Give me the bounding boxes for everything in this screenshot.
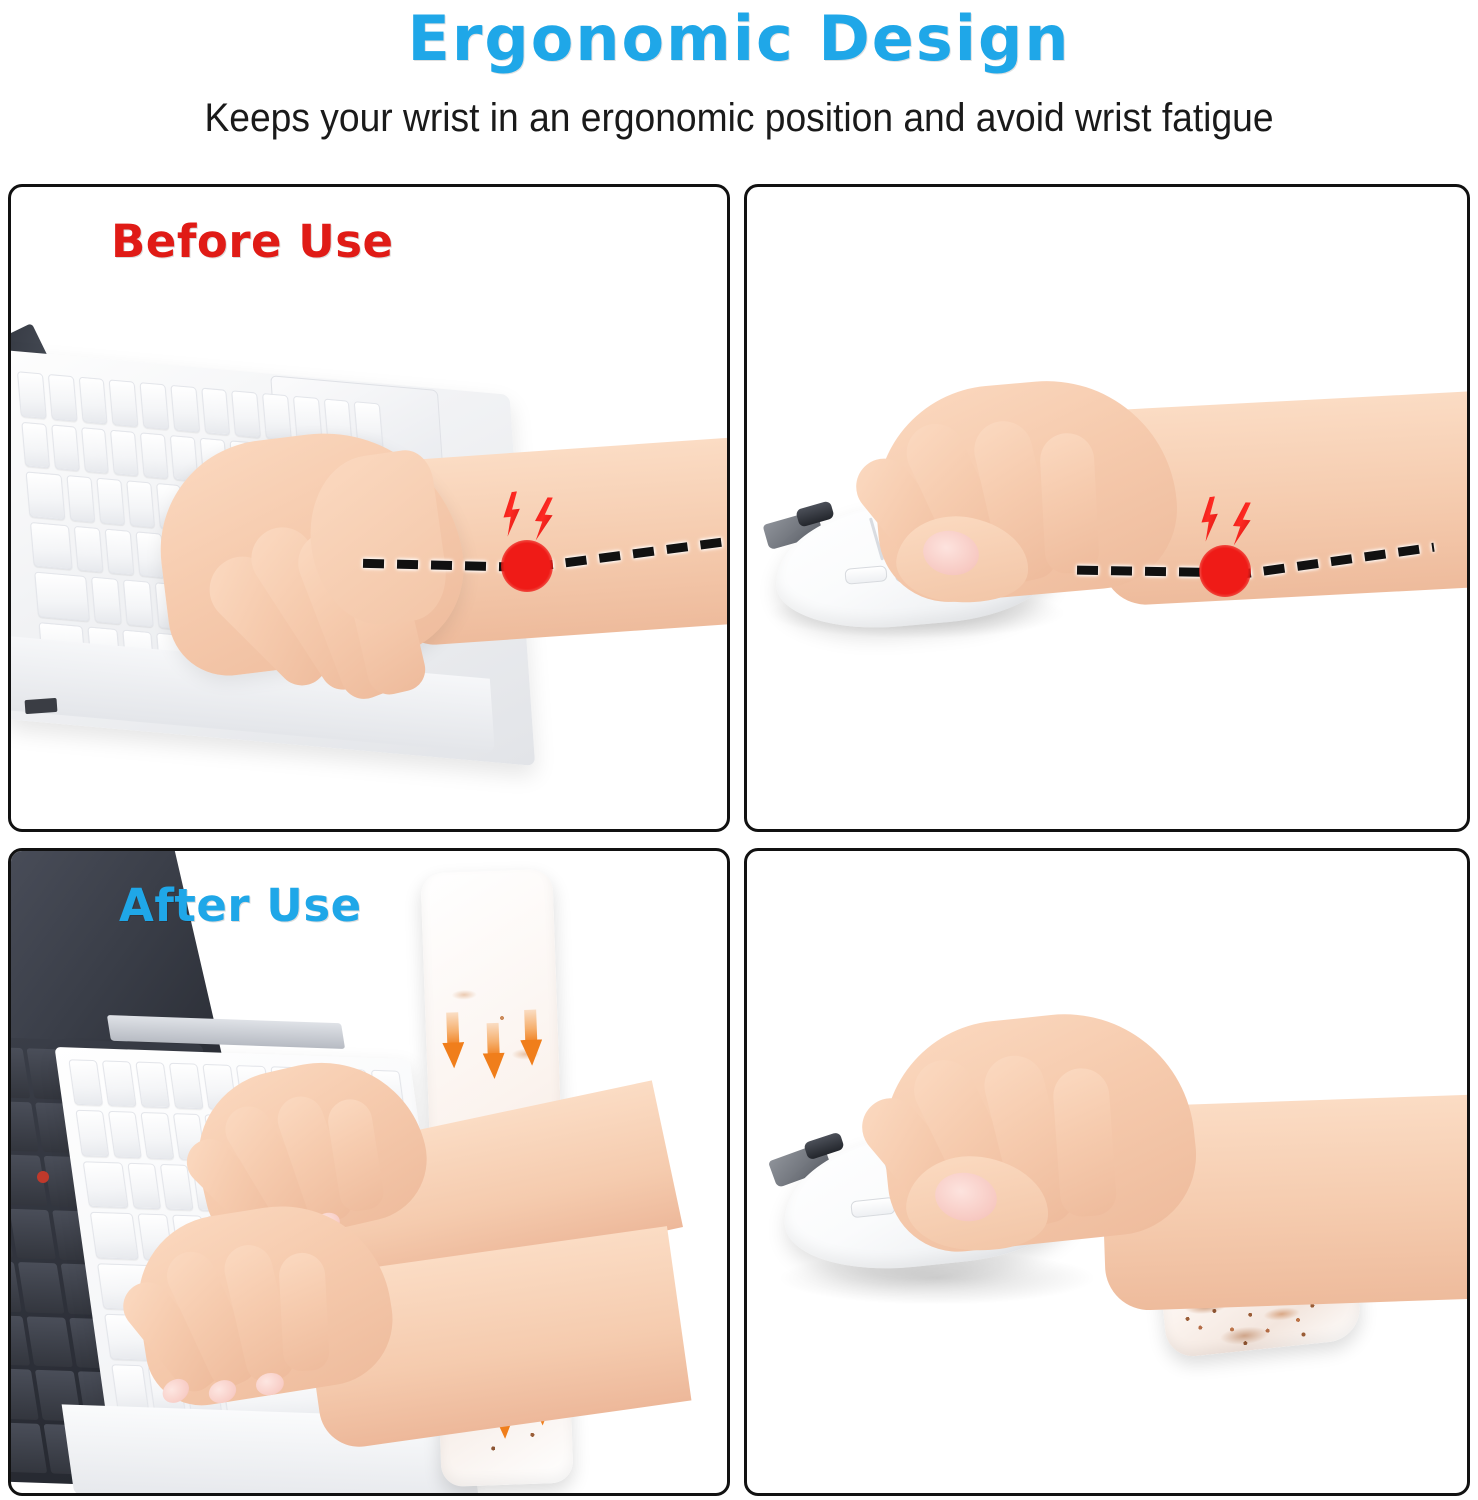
pain-point-icon	[1199, 545, 1251, 597]
panel-after-keyboard: After Use	[8, 848, 730, 1496]
page-header: Ergonomic Design Keeps your wrist in an …	[0, 0, 1478, 180]
scene-after-keyboard	[11, 851, 727, 1493]
page-title: Ergonomic Design	[0, 0, 1478, 70]
pain-bolt-icon	[497, 491, 527, 537]
support-arrow-icon	[482, 1023, 506, 1084]
pain-indicator-keyboard	[11, 187, 727, 829]
scene-before-mouse	[747, 187, 1467, 829]
page-subtitle: Keeps your wrist in an ergonomic positio…	[52, 70, 1427, 138]
panel-before-keyboard: Before Use	[8, 184, 730, 832]
wrist-angle-line-right	[531, 535, 730, 571]
pain-indicator-mouse	[747, 187, 1467, 829]
label-before-use: Before Use	[111, 215, 394, 268]
trackpoint-icon	[37, 1171, 49, 1183]
panel-after-mouse	[744, 848, 1470, 1496]
scene-before-keyboard	[11, 187, 727, 829]
finger	[278, 1252, 330, 1372]
support-arrow-icon	[519, 1009, 543, 1070]
support-arrow-icon	[441, 1012, 465, 1073]
pain-bolt-icon	[529, 496, 558, 542]
label-after-use: After Use	[119, 879, 362, 932]
comparison-grid: Before Use	[0, 180, 1478, 1500]
pain-point-icon	[501, 540, 553, 592]
wrist-angle-line-right	[1229, 543, 1434, 581]
scene-after-mouse	[747, 851, 1467, 1493]
finger	[1051, 1066, 1117, 1218]
panel-before-mouse	[744, 184, 1470, 832]
pain-bolt-icon	[1195, 496, 1225, 542]
pain-bolt-icon	[1227, 501, 1256, 547]
